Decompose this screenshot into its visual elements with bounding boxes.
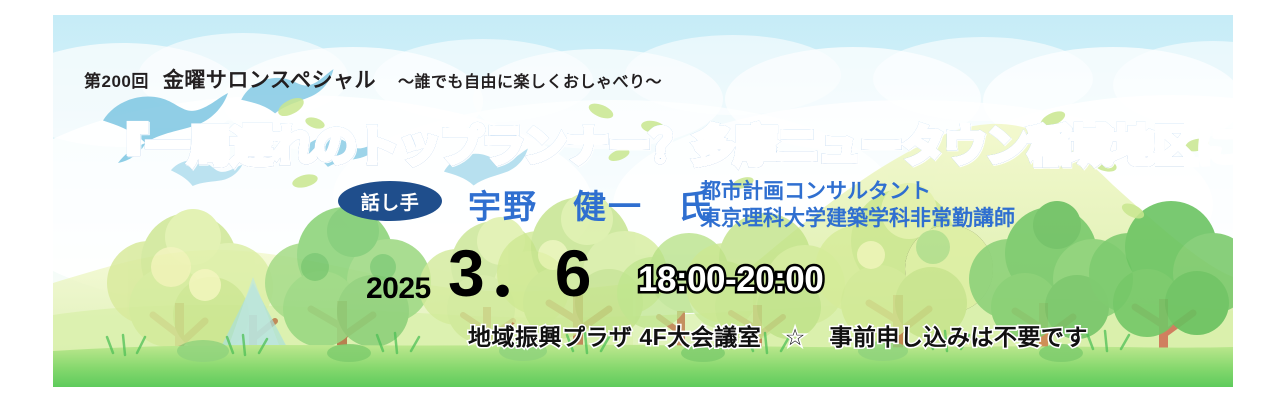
edition-number: 第200回 xyxy=(84,72,149,91)
page-title: 『一周遅れのトップランナー？多摩ニュータウン稲城地区について』 xyxy=(104,112,1184,174)
venue-line: 地域振興プラザ 4F大会議室 ☆ 事前申し込みは不要です xyxy=(468,318,1088,352)
schedule-row: 2025 3．6 18:00-20:00 xyxy=(0,246,1280,310)
event-time: 18:00-20:00 xyxy=(638,260,823,300)
tagline: ～誰でも自由に楽しくおしゃべり～ xyxy=(398,74,662,91)
affiliation-line-1: 都市計画コンサルタント xyxy=(700,178,1015,205)
event-date: 3．6 xyxy=(448,240,593,306)
event-year: 2025 xyxy=(366,272,431,306)
series-name: 金曜サロンスペシャル xyxy=(163,69,376,92)
speaker-badge: 話し手 xyxy=(338,181,442,221)
event-flyer: 第200回金曜サロンスペシャル～誰でも自由に楽しくおしゃべり～ 『一周遅れのトッ… xyxy=(0,0,1280,411)
speaker-name: 宇野 健一 氏 xyxy=(468,180,713,228)
speaker-affiliation: 都市計画コンサルタント 東京理科大学建築学科非常勤講師 xyxy=(700,178,1015,232)
speaker-badge-label: 話し手 xyxy=(361,188,420,215)
text-layer: 第200回金曜サロンスペシャル～誰でも自由に楽しくおしゃべり～ 『一周遅れのトッ… xyxy=(0,0,1280,411)
kicker-line: 第200回金曜サロンスペシャル～誰でも自由に楽しくおしゃべり～ xyxy=(84,64,662,94)
affiliation-line-2: 東京理科大学建築学科非常勤講師 xyxy=(700,205,1015,232)
